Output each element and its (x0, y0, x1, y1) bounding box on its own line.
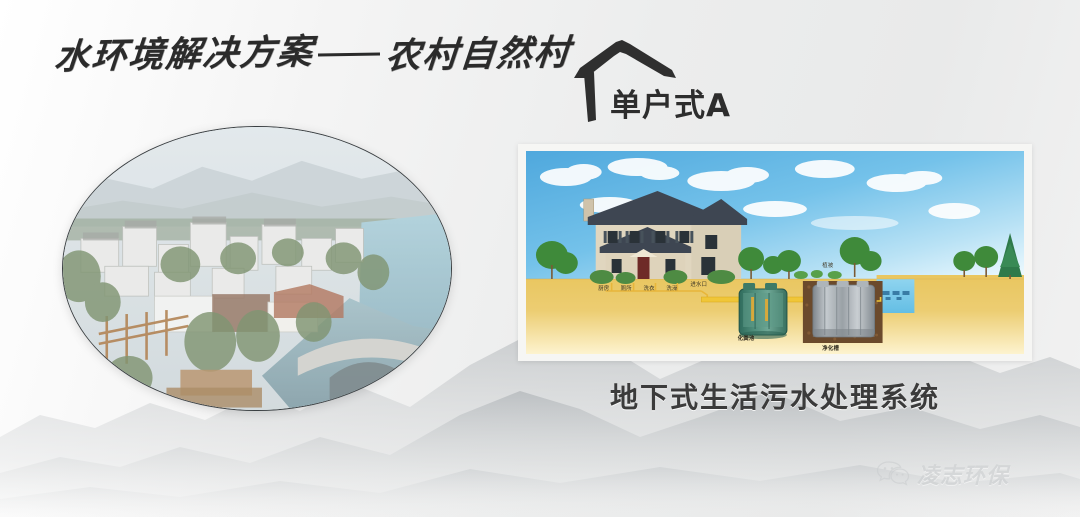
underground-sewage-treatment-diagram: 厨房 厕所 洗衣 洗澡 进水口 化粪池 净化槽 植被 (518, 144, 1032, 361)
wechat-icon (876, 460, 910, 488)
subtype-block: 单户式A (560, 32, 760, 124)
label-septic-tank: 化粪池 (738, 336, 755, 342)
watermark-text: 凌志环保 (917, 458, 1009, 490)
label-source-bath: 洗澡 (666, 286, 677, 292)
label-purification-tank: 净化槽 (822, 346, 839, 352)
title-dash-rule (318, 52, 380, 56)
title-main-text: 水环境解决方案 (53, 23, 317, 79)
diagram-caption: 地下式生活污水处理系统 (518, 376, 1032, 416)
subtype-label: 单户式A (610, 80, 731, 125)
label-source-kitchen: 厨房 (598, 286, 609, 292)
label-vegetation: 植被 (822, 263, 833, 269)
diagram-illustration (526, 151, 1024, 354)
watermark: 凌志环保 (876, 458, 1009, 490)
slide-root: 水环境解决方案 农村自然村 单户式A (0, 0, 1080, 517)
village-photo-frame (62, 126, 452, 411)
page-title: 水环境解决方案 农村自然村 (55, 26, 571, 77)
riverside-village-aerial-photo (63, 127, 451, 411)
title-sub-text: 农村自然村 (384, 24, 574, 79)
label-source-toilet: 厕所 (621, 286, 632, 292)
label-source-laundry: 洗衣 (644, 286, 655, 292)
label-inlet: 进水口 (690, 282, 707, 288)
